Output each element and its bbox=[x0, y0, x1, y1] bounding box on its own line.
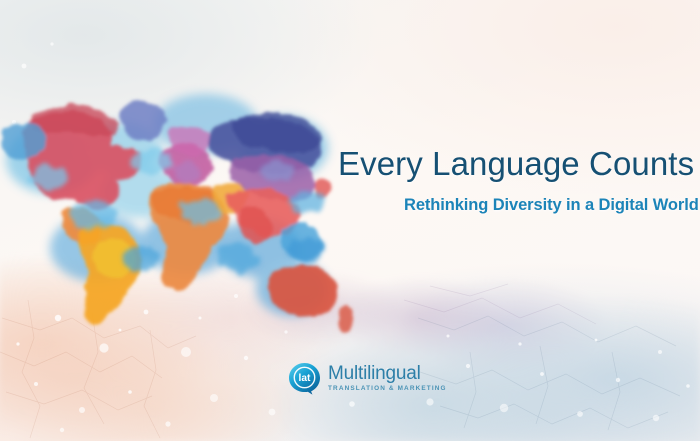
region-new-zealand bbox=[338, 307, 355, 332]
logo-mark-text: lat bbox=[299, 373, 312, 384]
watercolor-world-map bbox=[0, 52, 362, 352]
world-map-svg bbox=[0, 52, 362, 352]
page-subtitle: Rethinking Diversity in a Digital World bbox=[404, 196, 700, 215]
brand-logo[interactable]: lat Multilingual TRANSLATION & MARKETING bbox=[288, 362, 447, 395]
logo-tagline: TRANSLATION & MARKETING bbox=[328, 386, 447, 392]
logo-text-group: Multilingual TRANSLATION & MARKETING bbox=[328, 364, 447, 392]
headline-block: Every Language Counts Rethinking Diversi… bbox=[338, 146, 700, 215]
logo-wordmark: Multilingual bbox=[328, 364, 447, 383]
speech-bubble-logo-icon: lat bbox=[288, 362, 321, 395]
page-title: Every Language Counts bbox=[338, 146, 700, 183]
banner-hero: Every Language Counts Rethinking Diversi… bbox=[0, 0, 700, 441]
